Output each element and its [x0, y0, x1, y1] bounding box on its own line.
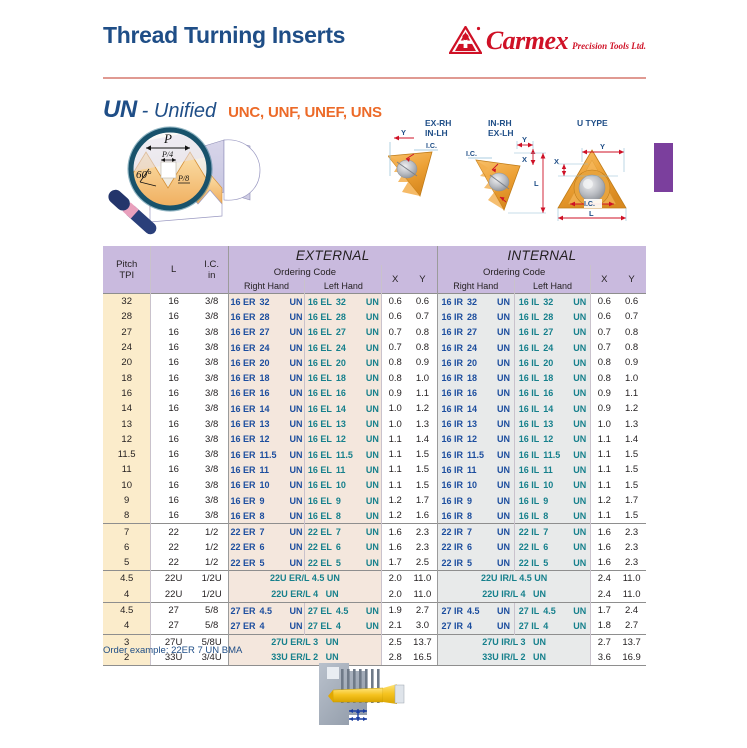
header-ext-right-hand: Right Hand: [228, 279, 305, 294]
cell-external-code: 22U ER/L 4.5 UN: [228, 571, 382, 587]
cell-ic: 5/8: [196, 602, 228, 618]
svg-text:L: L: [534, 179, 539, 188]
cell-external-right-hand: 16 ER18UN: [228, 370, 305, 385]
cell-internal-y: 0.6: [617, 294, 646, 310]
cell-external-x: 1.1: [382, 447, 408, 462]
table-row: 20163/816 ER20UN16 EL20UN0.80.916 IR20UN…: [103, 355, 646, 370]
cell-external-left-hand: 16 EL32UN: [305, 294, 382, 310]
cell-internal-right-hand: 16 IR20UN: [437, 355, 514, 370]
table-row: 9163/816 ER9UN16 EL9UN1.21.716 IR9UN16 I…: [103, 493, 646, 508]
threading-tool-illustration: [305, 657, 425, 743]
thread-standards: UNC, UNF, UNEF, UNS: [228, 104, 382, 121]
cell-external-right-hand: 27 ER4UN: [228, 618, 305, 634]
cell-internal-y: 2.4: [617, 602, 646, 618]
cell-pitch: 32: [103, 294, 151, 310]
cell-pitch: 13: [103, 416, 151, 431]
cell-internal-y: 0.9: [617, 355, 646, 370]
header-ic-line1: I.C.: [196, 259, 228, 270]
cell-ic: 3/8: [196, 447, 228, 462]
cell-external-y: 0.7: [408, 309, 437, 324]
cell-external-x: 1.1: [382, 478, 408, 493]
header-int-ordering-code: Ordering Code: [437, 265, 591, 279]
svg-text:P/4: P/4: [161, 150, 173, 159]
cell-l: 16: [151, 508, 196, 524]
cell-pitch: 24: [103, 340, 151, 355]
table-body: 32163/816 ER32UN16 EL32UN0.60.616 IR32UN…: [103, 294, 646, 666]
cell-ic: 3/8: [196, 386, 228, 401]
table-row: 5221/222 ER5UN22 EL5UN1.72.522 IR5UN22 I…: [103, 555, 646, 571]
cell-pitch: 4: [103, 618, 151, 634]
cell-external-right-hand: 22 ER5UN: [228, 555, 305, 571]
page-header: Thread Turning Inserts Carmex Precision …: [103, 22, 646, 68]
svg-text:X: X: [522, 155, 527, 164]
cell-internal-y: 0.7: [617, 309, 646, 324]
cell-external-left-hand: 16 EL20UN: [305, 355, 382, 370]
header-external: EXTERNAL: [228, 246, 437, 265]
cell-internal-right-hand: 16 IR28UN: [437, 309, 514, 324]
cell-external-y: 11.0: [408, 571, 437, 587]
cell-internal-right-hand: 22 IR7UN: [437, 524, 514, 540]
cell-internal-right-hand: 16 IR32UN: [437, 294, 514, 310]
cell-internal-left-hand: 16 IL9UN: [514, 493, 591, 508]
cell-internal-x: 0.9: [591, 401, 617, 416]
cell-ic: 3/8: [196, 416, 228, 431]
cell-internal-y: 11.0: [617, 587, 646, 603]
cell-internal-x: 0.8: [591, 355, 617, 370]
table-row: 11.5163/816 ER11.5UN16 EL11.5UN1.11.516 …: [103, 447, 646, 462]
cell-l: 16: [151, 493, 196, 508]
cell-pitch: 4.5: [103, 571, 151, 587]
cell-external-left-hand: 16 EL18UN: [305, 370, 382, 385]
thread-profile-illustration: P P/4 P/8 60°: [100, 126, 335, 238]
cell-internal-left-hand: 16 IL10UN: [514, 478, 591, 493]
cell-internal-right-hand: 16 IR14UN: [437, 401, 514, 416]
cell-internal-right-hand: 16 IR24UN: [437, 340, 514, 355]
header-divider: [103, 77, 646, 79]
cell-internal-left-hand: 16 IL28UN: [514, 309, 591, 324]
cell-internal-y: 1.3: [617, 416, 646, 431]
svg-text:IN-RH: IN-RH: [488, 118, 512, 128]
header-int-left-hand: Left Hand: [514, 279, 591, 294]
cell-ic: 3/8: [196, 432, 228, 447]
cell-external-x: 2.0: [382, 571, 408, 587]
cell-l: 16: [151, 386, 196, 401]
cell-internal-right-hand: 16 IR27UN: [437, 325, 514, 340]
cell-ic: 3/8: [196, 309, 228, 324]
carmex-logo-icon: [449, 26, 482, 54]
cell-external-y: 2.3: [408, 524, 437, 540]
cell-internal-y: 2.7: [617, 618, 646, 634]
cell-pitch: 18: [103, 370, 151, 385]
svg-text:Y: Y: [600, 142, 605, 151]
cell-internal-x: 0.6: [591, 309, 617, 324]
cell-pitch: 11.5: [103, 447, 151, 462]
cell-external-x: 1.7: [382, 555, 408, 571]
table-row: 4.5275/827 ER4.5UN27 EL4.5UN1.92.727 IR4…: [103, 602, 646, 618]
svg-text:60°: 60°: [136, 169, 152, 181]
cell-l: 22: [151, 555, 196, 571]
svg-text:X: X: [554, 157, 559, 166]
cell-ic: 3/8: [196, 478, 228, 493]
cell-external-x: 0.6: [382, 294, 408, 310]
cell-internal-right-hand: 16 IR13UN: [437, 416, 514, 431]
order-example-note: Order example: 22ER 7 UN BMA: [103, 645, 242, 656]
cell-external-left-hand: 16 EL10UN: [305, 478, 382, 493]
cell-external-x: 0.9: [382, 386, 408, 401]
cell-internal-left-hand: 22 IL6UN: [514, 540, 591, 555]
cell-internal-y: 2.3: [617, 555, 646, 571]
cell-external-left-hand: 16 EL16UN: [305, 386, 382, 401]
carmex-wordmark: Carmex: [486, 28, 568, 54]
cell-internal-y: 1.4: [617, 432, 646, 447]
table-row: 4275/827 ER4UN27 EL4UN2.13.027 IR4UN27 I…: [103, 618, 646, 634]
cell-external-x: 2.5: [382, 634, 408, 650]
cell-external-y: 3.0: [408, 618, 437, 634]
cell-ic: 3/8: [196, 370, 228, 385]
cell-l: 16: [151, 294, 196, 310]
cell-external-y: 1.4: [408, 432, 437, 447]
cell-external-y: 1.7: [408, 493, 437, 508]
cell-external-left-hand: 16 EL24UN: [305, 340, 382, 355]
cell-internal-y: 1.2: [617, 401, 646, 416]
cell-external-y: 1.3: [408, 416, 437, 431]
cell-internal-x: 1.2: [591, 493, 617, 508]
cell-internal-left-hand: 16 IL16UN: [514, 386, 591, 401]
cell-l: 22U: [151, 587, 196, 603]
cell-external-x: 0.7: [382, 325, 408, 340]
cell-external-x: 1.6: [382, 540, 408, 555]
table-row: 14163/816 ER14UN16 EL14UN1.01.216 IR14UN…: [103, 401, 646, 416]
cell-external-x: 1.2: [382, 493, 408, 508]
cell-internal-right-hand: 27 IR4.5UN: [437, 602, 514, 618]
cell-internal-x: 1.1: [591, 447, 617, 462]
cell-internal-x: 0.7: [591, 325, 617, 340]
cell-internal-y: 1.1: [617, 386, 646, 401]
cell-external-y: 1.1: [408, 386, 437, 401]
cell-external-right-hand: 16 ER32UN: [228, 294, 305, 310]
cell-l: 27: [151, 602, 196, 618]
insert-specification-table: Pitch TPI L I.C. in EXTERNAL INTERNAL Or…: [103, 246, 646, 666]
cell-external-right-hand: 22 ER6UN: [228, 540, 305, 555]
cell-l: 16: [151, 401, 196, 416]
cell-l: 16: [151, 370, 196, 385]
cell-external-left-hand: 16 EL12UN: [305, 432, 382, 447]
cell-l: 16: [151, 340, 196, 355]
cell-pitch: 16: [103, 386, 151, 401]
cell-external-x: 0.8: [382, 355, 408, 370]
cell-internal-x: 0.6: [591, 294, 617, 310]
cell-pitch: 27: [103, 325, 151, 340]
cell-external-left-hand: 27 EL4UN: [305, 618, 382, 634]
cell-ic: 5/8: [196, 618, 228, 634]
cell-internal-x: 2.4: [591, 571, 617, 587]
table-row: 422U1/2U22U ER/L 4 UN2.011.022U IR/L 4 U…: [103, 587, 646, 603]
header-l: L: [151, 246, 196, 294]
header-int-y: Y: [617, 265, 646, 294]
header-pitch-line1: Pitch: [103, 259, 150, 270]
cell-pitch: 6: [103, 540, 151, 555]
cell-l: 27: [151, 618, 196, 634]
section-subtitle: UN - Unified UNC, UNF, UNEF, UNS: [103, 96, 382, 124]
header-ic-line2: in: [196, 270, 228, 281]
cell-internal-x: 1.1: [591, 432, 617, 447]
cell-external-right-hand: 22 ER7UN: [228, 524, 305, 540]
cell-internal-x: 0.9: [591, 386, 617, 401]
cell-internal-left-hand: 16 IL20UN: [514, 355, 591, 370]
cell-external-left-hand: 27 EL4.5UN: [305, 602, 382, 618]
svg-text:U TYPE: U TYPE: [577, 118, 608, 128]
cell-external-y: 2.3: [408, 540, 437, 555]
svg-text:EX-RH: EX-RH: [425, 118, 451, 128]
cell-external-x: 1.1: [382, 462, 408, 477]
cell-pitch: 5: [103, 555, 151, 571]
cell-l: 16: [151, 432, 196, 447]
cell-internal-left-hand: 22 IL5UN: [514, 555, 591, 571]
header-pitch-line2: TPI: [103, 270, 150, 281]
cell-pitch: 9: [103, 493, 151, 508]
table-row: 6221/222 ER6UN22 EL6UN1.62.322 IR6UN22 I…: [103, 540, 646, 555]
svg-text:Y: Y: [522, 135, 527, 144]
header-internal: INTERNAL: [437, 246, 646, 265]
header-ext-y: Y: [408, 265, 437, 294]
cell-internal-y: 0.8: [617, 325, 646, 340]
cell-external-right-hand: 16 ER12UN: [228, 432, 305, 447]
cell-pitch: 28: [103, 309, 151, 324]
cell-l: 16: [151, 478, 196, 493]
table-row: 28163/816 ER28UN16 EL28UN0.60.716 IR28UN…: [103, 309, 646, 324]
cell-external-right-hand: 16 ER13UN: [228, 416, 305, 431]
cell-internal-y: 1.7: [617, 493, 646, 508]
cell-ic: 3/8: [196, 401, 228, 416]
cell-ic: 1/2: [196, 524, 228, 540]
table-header-row-1: Pitch TPI L I.C. in EXTERNAL INTERNAL: [103, 246, 646, 265]
cell-internal-left-hand: 16 IL11UN: [514, 462, 591, 477]
cell-internal-y: 11.0: [617, 571, 646, 587]
cell-internal-x: 0.7: [591, 340, 617, 355]
cell-internal-left-hand: 16 IL11.5UN: [514, 447, 591, 462]
cell-pitch: 4.5: [103, 602, 151, 618]
carmex-tagline: Precision Tools Ltd.: [572, 41, 646, 51]
cell-internal-x: 2.4: [591, 587, 617, 603]
cell-external-left-hand: 22 EL6UN: [305, 540, 382, 555]
cell-external-x: 0.8: [382, 370, 408, 385]
section-tab-marker: [654, 143, 673, 192]
cell-internal-x: 2.7: [591, 634, 617, 650]
svg-text:I.C.: I.C.: [466, 151, 477, 158]
cell-internal-y: 1.5: [617, 447, 646, 462]
table-row: 24163/816 ER24UN16 EL24UN0.70.816 IR24UN…: [103, 340, 646, 355]
table-row: 7221/222 ER7UN22 EL7UN1.62.322 IR7UN22 I…: [103, 524, 646, 540]
cell-external-right-hand: 16 ER20UN: [228, 355, 305, 370]
cell-external-left-hand: 16 EL13UN: [305, 416, 382, 431]
cell-external-y: 1.5: [408, 478, 437, 493]
cell-internal-y: 1.5: [617, 478, 646, 493]
table-row: 16163/816 ER16UN16 EL16UN0.91.116 IR16UN…: [103, 386, 646, 401]
cell-external-right-hand: 16 ER27UN: [228, 325, 305, 340]
cell-internal-y: 2.3: [617, 524, 646, 540]
cell-external-x: 1.2: [382, 508, 408, 524]
cell-internal-y: 1.5: [617, 508, 646, 524]
cell-external-y: 1.5: [408, 462, 437, 477]
cell-external-right-hand: 16 ER16UN: [228, 386, 305, 401]
cell-ic: 3/8: [196, 294, 228, 310]
cell-internal-y: 1.0: [617, 370, 646, 385]
cell-external-code: 27U ER/L 3 UN: [228, 634, 382, 650]
cell-internal-x: 1.8: [591, 618, 617, 634]
cell-l: 22U: [151, 571, 196, 587]
cell-external-y: 0.6: [408, 294, 437, 310]
cell-ic: 3/8: [196, 493, 228, 508]
cell-internal-right-hand: 16 IR18UN: [437, 370, 514, 385]
cell-external-left-hand: 16 EL8UN: [305, 508, 382, 524]
cell-internal-right-hand: 22 IR6UN: [437, 540, 514, 555]
cell-l: 16: [151, 309, 196, 324]
cell-ic: 3/8: [196, 355, 228, 370]
cell-internal-left-hand: 16 IL18UN: [514, 370, 591, 385]
cell-ic: 3/8: [196, 508, 228, 524]
cell-external-left-hand: 16 EL28UN: [305, 309, 382, 324]
cell-external-y: 1.0: [408, 370, 437, 385]
cell-internal-left-hand: 27 IL4.5UN: [514, 602, 591, 618]
cell-external-code: 22U ER/L 4 UN: [228, 587, 382, 603]
thread-type-name: - Unified: [142, 100, 216, 123]
cell-external-left-hand: 16 EL27UN: [305, 325, 382, 340]
cell-internal-y: 16.9: [617, 650, 646, 666]
header-ext-ordering-code: Ordering Code: [228, 265, 382, 279]
cell-external-left-hand: 16 EL11.5UN: [305, 447, 382, 462]
cell-external-right-hand: 16 ER24UN: [228, 340, 305, 355]
cell-internal-y: 0.8: [617, 340, 646, 355]
svg-text:Y: Y: [401, 128, 406, 137]
cell-pitch: 4: [103, 587, 151, 603]
cell-external-right-hand: 27 ER4.5UN: [228, 602, 305, 618]
cell-external-y: 0.9: [408, 355, 437, 370]
cell-internal-left-hand: 16 IL13UN: [514, 416, 591, 431]
cell-internal-right-hand: 16 IR11.5UN: [437, 447, 514, 462]
cell-external-x: 0.7: [382, 340, 408, 355]
svg-text:P/8: P/8: [177, 174, 189, 183]
cell-l: 16: [151, 447, 196, 462]
svg-text:EX-LH: EX-LH: [488, 128, 514, 138]
cell-internal-right-hand: 16 IR10UN: [437, 478, 514, 493]
cell-external-y: 0.8: [408, 340, 437, 355]
insert-geometry-diagrams: I.C. Y EX-RH IN-LH IN-RH EX-LH: [388, 116, 648, 238]
cell-pitch: 12: [103, 432, 151, 447]
cell-ic: 3/8: [196, 340, 228, 355]
cell-external-right-hand: 16 ER11UN: [228, 462, 305, 477]
table-row: 18163/816 ER18UN16 EL18UN0.81.016 IR18UN…: [103, 370, 646, 385]
cell-internal-left-hand: 16 IL27UN: [514, 325, 591, 340]
header-ic: I.C. in: [196, 246, 228, 294]
cell-ic: 1/2: [196, 540, 228, 555]
cell-internal-left-hand: 16 IL24UN: [514, 340, 591, 355]
table-row: 32163/816 ER32UN16 EL32UN0.60.616 IR32UN…: [103, 294, 646, 310]
cell-internal-right-hand: 16 IR9UN: [437, 493, 514, 508]
cell-internal-y: 2.3: [617, 540, 646, 555]
svg-text:I.C.: I.C.: [426, 143, 437, 150]
page-title: Thread Turning Inserts: [103, 22, 345, 49]
cell-external-left-hand: 22 EL7UN: [305, 524, 382, 540]
cell-internal-x: 1.1: [591, 462, 617, 477]
svg-text:IN-LH: IN-LH: [425, 128, 448, 138]
cell-internal-right-hand: 16 IR12UN: [437, 432, 514, 447]
svg-text:L: L: [589, 209, 594, 218]
cell-internal-left-hand: 22 IL7UN: [514, 524, 591, 540]
cell-internal-x: 1.0: [591, 416, 617, 431]
cell-internal-x: 0.8: [591, 370, 617, 385]
cell-internal-left-hand: 16 IL32UN: [514, 294, 591, 310]
cell-external-y: 1.2: [408, 401, 437, 416]
cell-internal-right-hand: 16 IR11UN: [437, 462, 514, 477]
cell-external-x: 2.1: [382, 618, 408, 634]
cell-external-right-hand: 16 ER8UN: [228, 508, 305, 524]
cell-external-x: 1.0: [382, 416, 408, 431]
cell-external-x: 2.0: [382, 587, 408, 603]
cell-ic: 3/8: [196, 462, 228, 477]
cell-external-y: 2.5: [408, 555, 437, 571]
cell-ic: 1/2: [196, 555, 228, 571]
cell-internal-right-hand: 16 IR8UN: [437, 508, 514, 524]
cell-internal-right-hand: 22 IR5UN: [437, 555, 514, 571]
header-int-x: X: [591, 265, 617, 294]
svg-text:P: P: [163, 131, 172, 146]
cell-external-right-hand: 16 ER9UN: [228, 493, 305, 508]
table-row: 27163/816 ER27UN16 EL27UN0.70.816 IR27UN…: [103, 325, 646, 340]
cell-external-left-hand: 16 EL11UN: [305, 462, 382, 477]
catalog-page: Thread Turning Inserts Carmex Precision …: [0, 0, 747, 747]
cell-internal-y: 1.5: [617, 462, 646, 477]
carmex-logo: Carmex Precision Tools Ltd.: [449, 24, 646, 54]
cell-pitch: 20: [103, 355, 151, 370]
table-row: 12163/816 ER12UN16 EL12UN1.11.416 IR12UN…: [103, 432, 646, 447]
header-ext-x: X: [382, 265, 408, 294]
cell-ic: 1/2U: [196, 571, 228, 587]
cell-ic: 3/8: [196, 325, 228, 340]
cell-pitch: 14: [103, 401, 151, 416]
cell-external-y: 2.7: [408, 602, 437, 618]
cell-external-x: 0.6: [382, 309, 408, 324]
cell-external-y: 1.6: [408, 508, 437, 524]
cell-external-y: 13.7: [408, 634, 437, 650]
cell-pitch: 8: [103, 508, 151, 524]
cell-internal-code: 22U IR/L 4 UN: [437, 587, 591, 603]
cell-internal-code: 22U IR/L 4.5 UN: [437, 571, 591, 587]
cell-external-y: 11.0: [408, 587, 437, 603]
cell-external-left-hand: 22 EL5UN: [305, 555, 382, 571]
cell-internal-x: 1.6: [591, 555, 617, 571]
table-row: 13163/816 ER13UN16 EL13UN1.01.316 IR13UN…: [103, 416, 646, 431]
svg-text:I.C.: I.C.: [584, 201, 595, 208]
cell-internal-left-hand: 27 IL4UN: [514, 618, 591, 634]
header-int-right-hand: Right Hand: [437, 279, 514, 294]
cell-l: 22: [151, 540, 196, 555]
cell-internal-y: 13.7: [617, 634, 646, 650]
cell-internal-code: 27U IR/L 3 UN: [437, 634, 591, 650]
cell-internal-x: 1.6: [591, 524, 617, 540]
cell-l: 22: [151, 524, 196, 540]
cell-external-y: 1.5: [408, 447, 437, 462]
cell-internal-x: 1.7: [591, 602, 617, 618]
table-row: 8163/816 ER8UN16 EL8UN1.21.616 IR8UN16 I…: [103, 508, 646, 524]
table-row: 10163/816 ER10UN16 EL10UN1.11.516 IR10UN…: [103, 478, 646, 493]
cell-internal-left-hand: 16 IL14UN: [514, 401, 591, 416]
cell-internal-x: 3.6: [591, 650, 617, 666]
cell-external-left-hand: 16 EL14UN: [305, 401, 382, 416]
cell-pitch: 10: [103, 478, 151, 493]
cell-external-right-hand: 16 ER28UN: [228, 309, 305, 324]
cell-internal-left-hand: 16 IL8UN: [514, 508, 591, 524]
header-pitch: Pitch TPI: [103, 246, 151, 294]
